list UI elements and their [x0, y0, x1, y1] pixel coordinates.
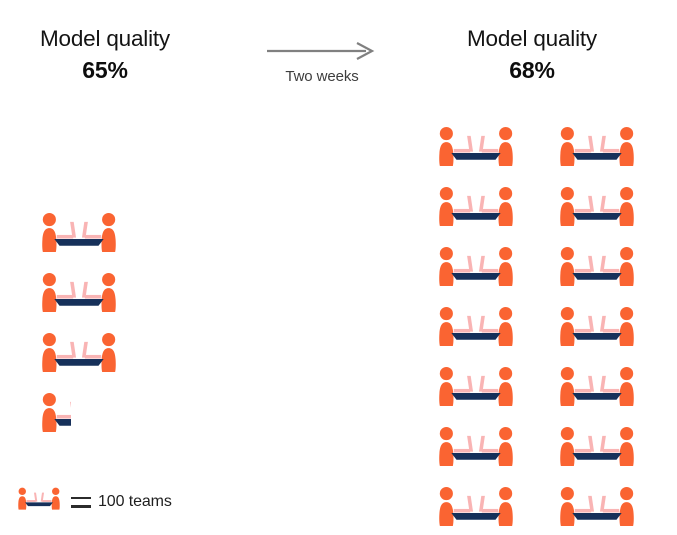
team-icon [558, 246, 636, 290]
team-icon [558, 126, 636, 170]
panel-heading-before: Model quality 65% [10, 26, 200, 84]
transition-arrow-group: Two weeks [262, 40, 382, 85]
team-icon [40, 212, 118, 256]
team-icon-unit [558, 306, 636, 350]
team-icon-unit [437, 426, 515, 470]
team-icon [437, 126, 515, 170]
panel-heading-after: Model quality 68% [437, 26, 627, 84]
team-icon-unit [558, 486, 636, 530]
team-icon [17, 487, 61, 512]
team-icon-unit [437, 306, 515, 350]
team-icon-unit [40, 272, 118, 316]
team-icon-unit [437, 186, 515, 230]
pictogram-row [437, 126, 636, 170]
pictogram-row [40, 272, 118, 316]
pictogram-group-before [40, 212, 118, 436]
team-icon-unit [558, 426, 636, 470]
team-icon [437, 306, 515, 350]
team-icon [558, 486, 636, 530]
pictogram-row [437, 306, 636, 350]
team-icon-unit [437, 246, 515, 290]
team-icon [437, 486, 515, 530]
pictogram-row [40, 332, 118, 376]
team-icon [40, 332, 118, 376]
team-icon [558, 306, 636, 350]
team-icon [558, 186, 636, 230]
team-icon-unit [437, 126, 515, 170]
team-icon [437, 246, 515, 290]
team-icon-unit [558, 246, 636, 290]
team-icon [437, 426, 515, 470]
legend-label: 100 teams [98, 493, 172, 511]
team-icon [40, 392, 71, 436]
equals-icon [71, 497, 91, 508]
team-icon [558, 426, 636, 470]
team-icon-unit [40, 332, 118, 376]
panel-label-after: Model quality [437, 26, 627, 53]
pictogram-row [437, 426, 636, 470]
team-icon [437, 186, 515, 230]
pictogram-row [40, 392, 118, 436]
team-icon [558, 366, 636, 410]
team-icon-unit [558, 186, 636, 230]
team-icon-unit [437, 486, 515, 530]
pictogram-row [437, 486, 636, 530]
team-icon-unit [558, 126, 636, 170]
team-icon [40, 272, 118, 316]
panel-value-before: 65% [10, 57, 200, 84]
pictogram-row [40, 212, 118, 256]
legend: 100 teams [17, 487, 172, 517]
panel-value-after: 68% [437, 57, 627, 84]
panel-label-before: Model quality [10, 26, 200, 53]
legend-team-icon [17, 487, 61, 517]
team-icon [437, 366, 515, 410]
team-icon-unit [40, 212, 118, 256]
arrow-right-icon [262, 40, 382, 62]
pictogram-row [437, 186, 636, 230]
transition-caption: Two weeks [262, 68, 382, 85]
pictogram-group-after [437, 126, 636, 530]
pictogram-row [437, 366, 636, 410]
team-icon-unit [437, 366, 515, 410]
team-icon-unit [558, 366, 636, 410]
pictogram-row [437, 246, 636, 290]
team-icon-partial [40, 392, 71, 436]
